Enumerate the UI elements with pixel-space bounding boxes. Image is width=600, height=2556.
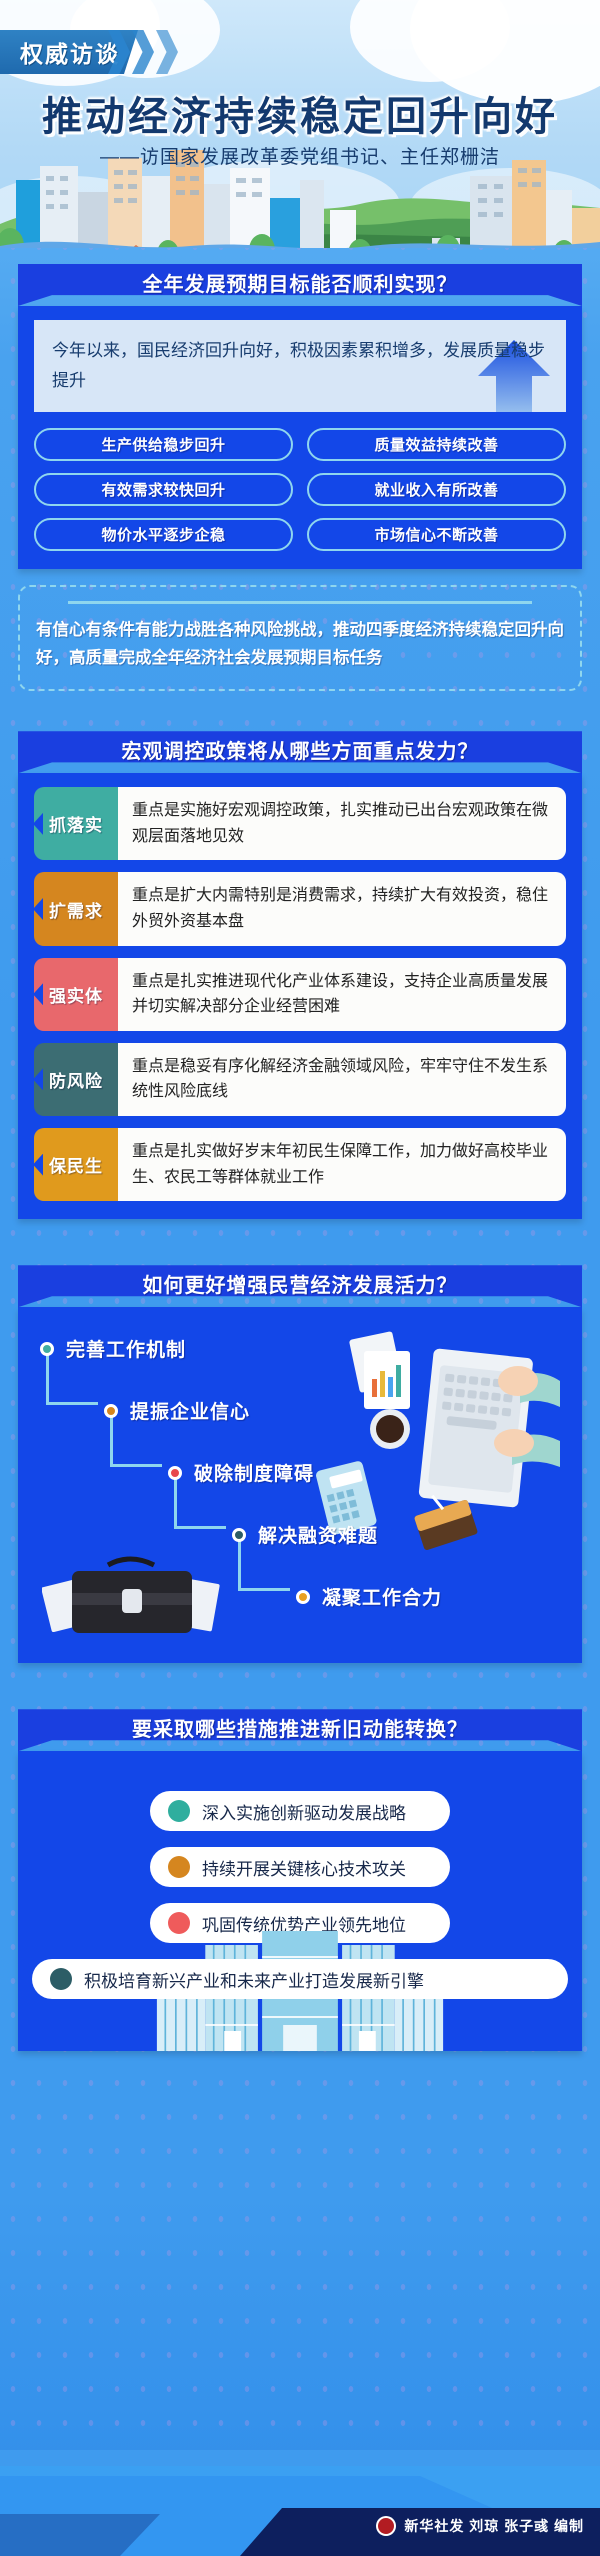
policy-row: 抓落实 重点是实施好宏观调控政策，扎实推动已出台宏观政策在微观层面落地见效 <box>34 787 566 860</box>
section-momentum-shift: 要采取哪些措施推进新旧动能转换？ 深入实施创新驱动发展战略 持续开展关键核心技术… <box>18 1709 582 2051</box>
tag-label: 权威访谈 <box>20 35 120 69</box>
measure-node[interactable]: 完善工作机制 <box>40 1335 186 1362</box>
page-subtitle: ——访国家发展改革委党组书记、主任郑栅洁 <box>0 142 600 169</box>
node-dot-icon <box>40 1342 54 1356</box>
double-chevron-right-icon <box>108 30 178 74</box>
infographic-page: 权威访谈 推动经济持续稳定回升向好 ——访国家发展改革委党组书记、主任郑栅洁 <box>0 0 600 2556</box>
policy-text: 重点是扎实做好岁末年初民生保障工作，加力做好高校毕业生、农民工等群体就业工作 <box>118 1128 566 1201</box>
node-dot-icon <box>296 1590 310 1604</box>
policy-row: 强实体 重点是扎实推进现代化产业体系建设，支持企业高质量发展并切实解决部分企业经… <box>34 958 566 1031</box>
momentum-label: 积极培育新兴产业和未来产业打造发展新引擎 <box>84 1967 424 1992</box>
policy-text: 重点是实施好宏观调控政策，扎实推动已出台宏观政策在微观层面落地见效 <box>118 787 566 860</box>
section-heading-banner: 如何更好增强民营经济发展活力？ <box>18 1265 582 1307</box>
section-heading-text: 如何更好增强民营经济发展活力？ <box>143 1269 458 1298</box>
measure-label: 破除制度障碍 <box>194 1459 314 1486</box>
policy-row: 保民生 重点是扎实做好岁末年初民生保障工作，加力做好高校毕业生、农民工等群体就业… <box>34 1128 566 1201</box>
section-body: 完善工作机制 提振企业信心 破除制度障碍 解决融资难题 凝聚工作合力 <box>18 1307 582 1663</box>
measures-tree: 完善工作机制 提振企业信心 破除制度障碍 解决融资难题 凝聚工作合力 <box>34 1317 566 1647</box>
divider <box>68 601 533 604</box>
policy-badge: 强实体 <box>34 958 118 1031</box>
indicator-pill[interactable]: 就业收入有所改善 <box>307 473 566 506</box>
credit-line: 新华社发 刘琼 张子彧 编制 <box>376 2516 584 2536</box>
briefcase-icon <box>42 1537 222 1647</box>
item-dot-icon <box>168 1856 190 1878</box>
node-dot-icon <box>168 1466 182 1480</box>
indicator-pill[interactable]: 物价水平逐步企稳 <box>34 518 293 551</box>
policy-badge: 保民生 <box>34 1128 118 1201</box>
indicator-pill-list: 生产供给稳步回升 质量效益持续改善 有效需求较快回升 就业收入有所改善 物价水平… <box>34 428 566 551</box>
wave-divider <box>0 232 600 248</box>
section-body: 今年以来，国民经济回升向好，积极因素累积增多，发展质量稳步提升 生产供给稳步回升… <box>18 306 582 569</box>
intro-text: 今年以来，国民经济回升向好，积极因素累积增多，发展质量稳步提升 <box>52 336 548 396</box>
node-dot-icon <box>232 1528 246 1542</box>
measure-label: 解决融资难题 <box>258 1521 378 1548</box>
section-macro-policy: 宏观调控政策将从哪些方面重点发力？ 抓落实 重点是实施好宏观调控政策，扎实推动已… <box>18 731 582 1219</box>
policy-text: 重点是稳妥有序化解经济金融领域风险，牢牢守住不发生系统性风险底线 <box>118 1043 566 1116</box>
section-heading-text: 宏观调控政策将从哪些方面重点发力？ <box>122 735 479 764</box>
header-banner: 权威访谈 推动经济持续稳定回升向好 ——访国家发展改革委党组书记、主任郑栅洁 <box>0 0 600 248</box>
policy-badge: 抓落实 <box>34 787 118 860</box>
section-heading-text: 全年发展预期目标能否顺利实现？ <box>143 268 458 297</box>
node-dot-icon <box>104 1404 118 1418</box>
measure-node[interactable]: 提振企业信心 <box>104 1397 250 1424</box>
credit-text: 新华社发 刘琼 张子彧 编制 <box>404 2516 584 2536</box>
item-dot-icon <box>168 1800 190 1822</box>
indicator-pill[interactable]: 市场信心不断改善 <box>307 518 566 551</box>
policy-row: 防风险 重点是稳妥有序化解经济金融领域风险，牢牢守住不发生系统性风险底线 <box>34 1043 566 1116</box>
intro-panel: 今年以来，国民经济回升向好，积极因素累积增多，发展质量稳步提升 <box>34 320 566 412</box>
section-heading-banner: 要采取哪些措施推进新旧动能转换？ <box>18 1709 582 1751</box>
indicator-pill[interactable]: 生产供给稳步回升 <box>34 428 293 461</box>
momentum-item[interactable]: 持续开展关键核心技术攻关 <box>150 1847 450 1887</box>
momentum-item[interactable]: 积极培育新兴产业和未来产业打造发展新引擎 <box>32 1959 568 1999</box>
documents-icon <box>349 1331 410 1409</box>
conclusion-box: 有信心有条件有能力战胜各种风险挑战，推动四季度经济持续稳定回升向好，高质量完成全… <box>18 585 582 692</box>
section-heading-banner: 宏观调控政策将从哪些方面重点发力？ <box>18 731 582 773</box>
policy-row: 扩需求 重点是扩大内需特别是消费需求，持续扩大有效投资，稳住外贸外资基本盘 <box>34 872 566 945</box>
conclusion-text: 有信心有条件有能力战胜各种风险挑战，推动四季度经济持续稳定回升向好，高质量完成全… <box>36 616 564 674</box>
section-heading-text: 要采取哪些措施推进新旧动能转换？ <box>132 1713 468 1742</box>
policy-text: 重点是扩大内需特别是消费需求，持续扩大有效投资，稳住外贸外资基本盘 <box>118 872 566 945</box>
xinhua-seal-icon <box>376 2516 396 2536</box>
measure-node[interactable]: 凝聚工作合力 <box>296 1583 442 1610</box>
momentum-item[interactable]: 深入实施创新驱动发展战略 <box>150 1791 450 1831</box>
momentum-label: 持续开展关键核心技术攻关 <box>202 1855 406 1880</box>
coffee-cup-icon <box>370 1409 410 1449</box>
indicator-pill[interactable]: 质量效益持续改善 <box>307 428 566 461</box>
policy-badge: 防风险 <box>34 1043 118 1116</box>
measure-label: 凝聚工作合力 <box>322 1583 442 1610</box>
policy-text: 重点是扎实推进现代化产业体系建设，支持企业高质量发展并切实解决部分企业经营困难 <box>118 958 566 1031</box>
section-body: 抓落实 重点是实施好宏观调控政策，扎实推动已出台宏观政策在微观层面落地见效 扩需… <box>18 773 582 1219</box>
measure-node[interactable]: 解决融资难题 <box>232 1521 378 1548</box>
item-dot-icon <box>50 1968 72 1990</box>
section-heading-banner: 全年发展预期目标能否顺利实现？ <box>18 264 582 306</box>
section-body: 深入实施创新驱动发展战略 持续开展关键核心技术攻关 巩固传统优势产业领先地位 积… <box>18 1751 582 2051</box>
measure-label: 提振企业信心 <box>130 1397 250 1424</box>
momentum-label: 深入实施创新驱动发展战略 <box>202 1799 406 1824</box>
indicator-pill[interactable]: 有效需求较快回升 <box>34 473 293 506</box>
page-title: 推动经济持续稳定回升向好 <box>0 84 600 142</box>
measure-label: 完善工作机制 <box>66 1335 186 1362</box>
footer-bar: 新华社发 刘琼 张子彧 编制 <box>0 2450 600 2556</box>
policy-badge: 扩需求 <box>34 872 118 945</box>
section-annual-goals: 全年发展预期目标能否顺利实现？ 今年以来，国民经济回升向好，积极因素累积增多，发… <box>18 264 582 691</box>
footer-decoration <box>0 2450 600 2556</box>
section-private-economy: 如何更好增强民营经济发展活力？ <box>18 1265 582 1663</box>
measure-node[interactable]: 破除制度障碍 <box>168 1459 314 1486</box>
